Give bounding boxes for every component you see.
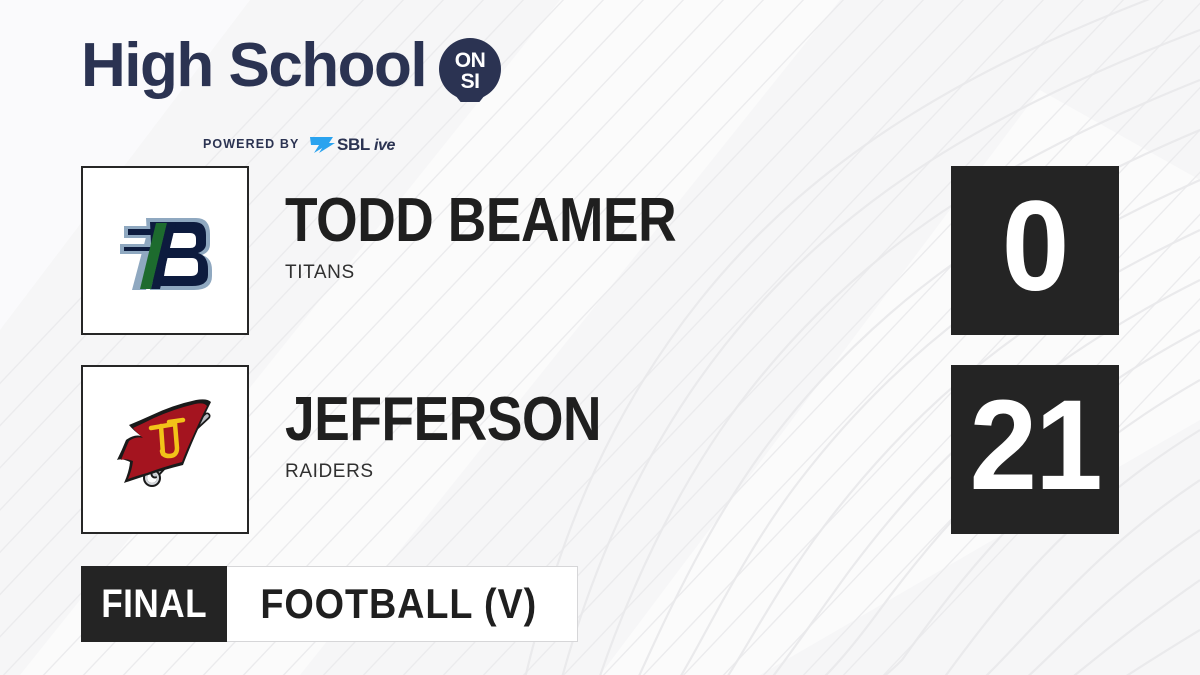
powered-by-label: POWERED BY xyxy=(203,137,299,151)
sblive-logo: SBL ive xyxy=(306,134,414,154)
todd-beamer-titans-logo xyxy=(106,192,224,310)
score-value-1: 0 xyxy=(1002,183,1068,311)
brand-header: High School ON SI POWERED BY SBL ive xyxy=(81,30,511,140)
svg-text:SBL: SBL xyxy=(337,135,370,154)
team-name-2: JEFFERSON xyxy=(285,391,818,450)
svg-text:High School: High School xyxy=(81,31,426,100)
team-mascot-2: RAIDERS xyxy=(285,461,905,483)
sport-label: FOOTBALL (V) xyxy=(260,580,537,628)
status-bar: FINAL FOOTBALL (V) xyxy=(81,566,578,642)
score-box-1: 0 xyxy=(951,166,1119,335)
score-value-2: 21 xyxy=(969,382,1100,510)
svg-text:ON: ON xyxy=(455,49,486,72)
powered-by-block: POWERED BY SBL ive xyxy=(203,134,414,154)
high-school-on-si-wordmark: High School ON SI xyxy=(81,30,511,102)
team-row-2: JEFFERSON RAIDERS 21 xyxy=(0,365,1200,534)
score-box-2: 21 xyxy=(951,365,1119,534)
jefferson-raiders-logo xyxy=(103,388,227,512)
map-pin-icon: ON SI xyxy=(439,38,501,102)
team-text-1: TODD BEAMER TITANS xyxy=(285,192,905,284)
team-logo-box-2 xyxy=(81,365,249,534)
sblive-bolt-icon xyxy=(310,137,335,153)
status-badge-label: FINAL xyxy=(101,582,207,627)
sport-label-box: FOOTBALL (V) xyxy=(227,566,578,642)
team-row-1: TODD BEAMER TITANS 0 xyxy=(0,166,1200,335)
svg-text:ive: ive xyxy=(374,137,396,154)
team-text-2: JEFFERSON RAIDERS xyxy=(285,391,905,483)
status-badge: FINAL xyxy=(81,566,227,642)
svg-text:SI: SI xyxy=(461,70,480,93)
team-name-1: TODD BEAMER xyxy=(285,192,818,251)
team-logo-box-1 xyxy=(81,166,249,335)
team-mascot-1: TITANS xyxy=(285,262,905,284)
